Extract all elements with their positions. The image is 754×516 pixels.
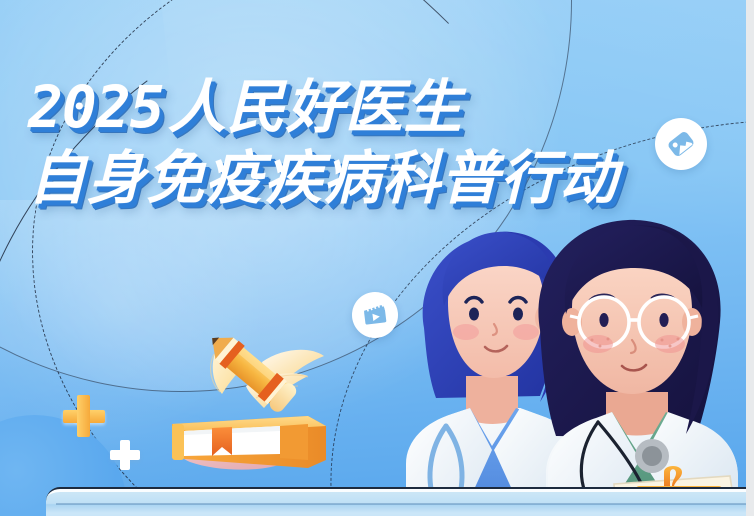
title-line-1-text: 人民好医生 xyxy=(168,75,463,140)
winged-pencil-and-book-illustration xyxy=(158,300,348,490)
poster-canvas: 2025人民好医生 自身免疫疾病科普行动 xyxy=(0,0,746,516)
doctor-right xyxy=(538,220,738,516)
plus-icon-orange xyxy=(63,395,105,437)
title-line-2: 自身免疫疾病科普行动 xyxy=(28,149,718,208)
poster-screenshot: 2025人民好医生 自身免疫疾病科普行动 xyxy=(0,0,754,516)
title-line-1: 2025人民好医生 xyxy=(28,78,718,137)
poster-title: 2025人民好医生 自身免疫疾病科普行动 xyxy=(28,78,718,208)
image-icon-glyph xyxy=(664,127,698,161)
right-gutter xyxy=(746,0,754,516)
image-icon[interactable] xyxy=(655,118,707,170)
desk-bar xyxy=(46,487,746,516)
video-play-icon[interactable] xyxy=(352,292,398,338)
plus-icon-white xyxy=(110,440,140,470)
video-play-icon-glyph xyxy=(360,300,390,330)
title-year: 2025 xyxy=(28,73,168,141)
doctors-illustration xyxy=(400,210,746,516)
